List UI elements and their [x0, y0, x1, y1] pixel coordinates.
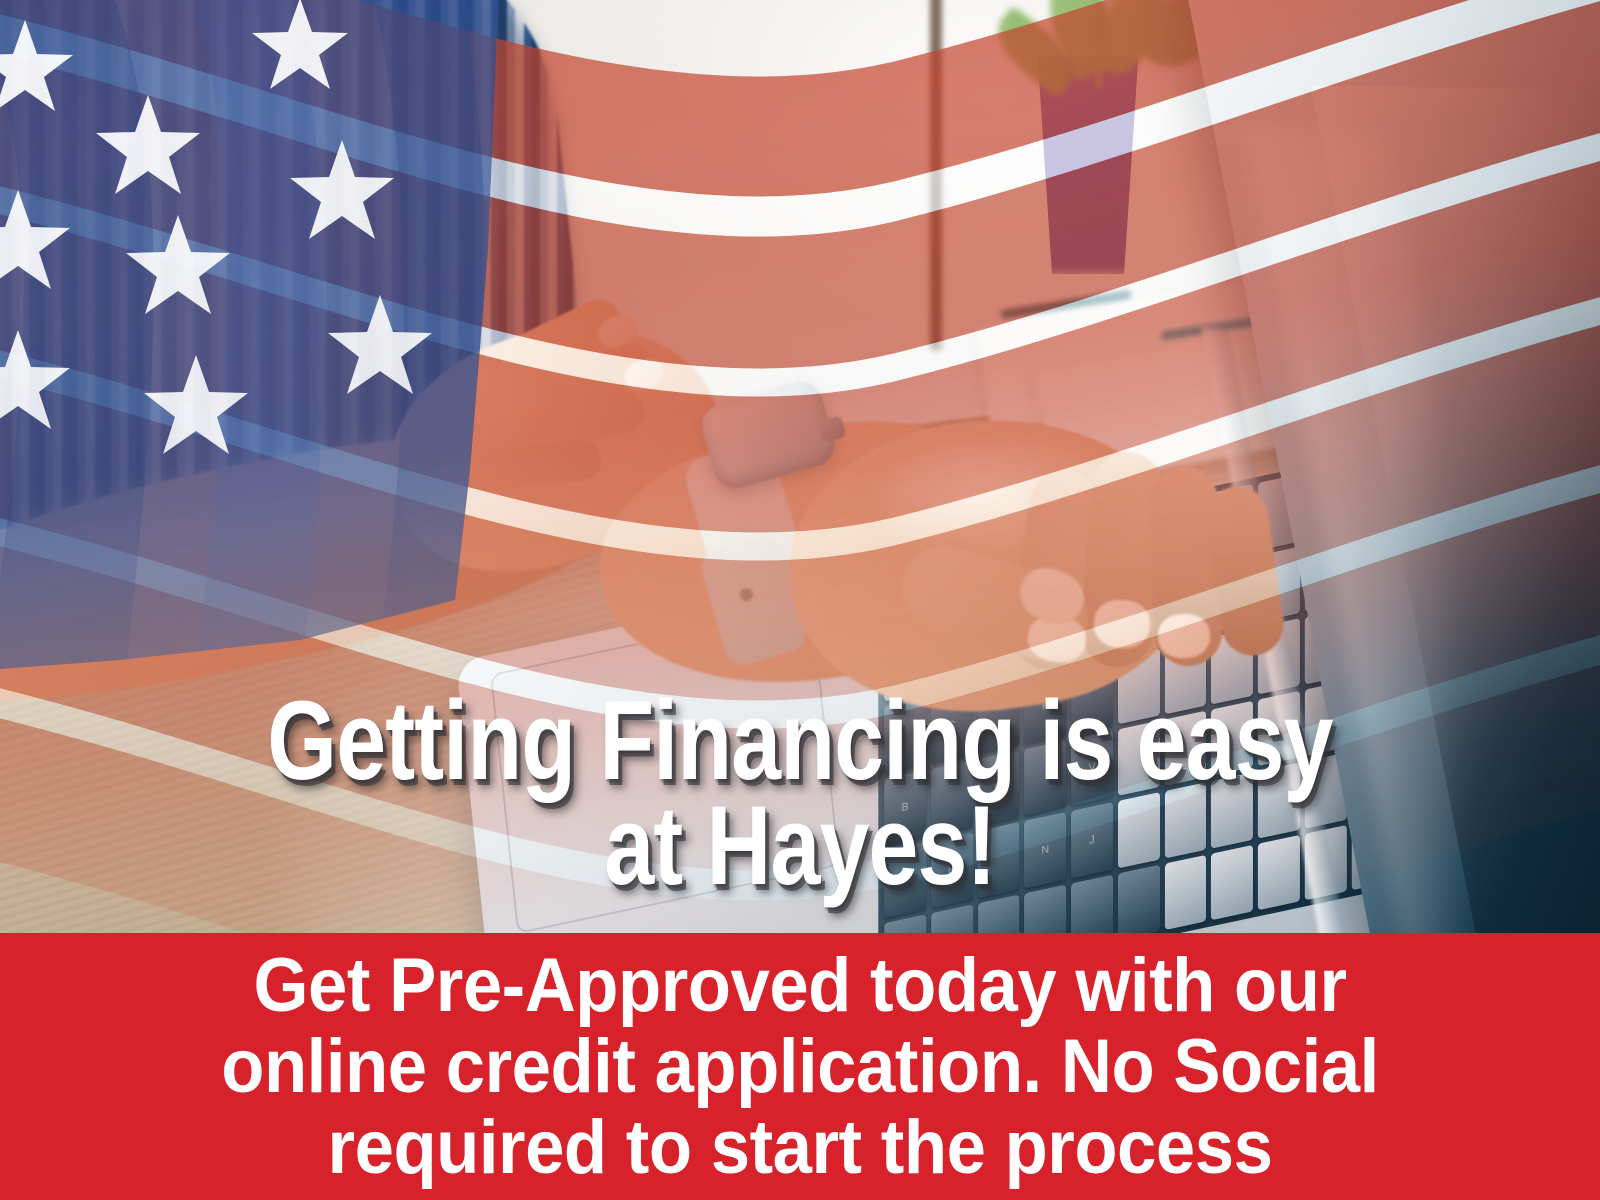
- headline-line-2: at Hayes!: [160, 793, 1440, 898]
- banner-line-1: Get Pre-Approved today with our: [93, 945, 1507, 1026]
- headline: Getting Financing is easy at Hayes!: [0, 688, 1600, 899]
- call-to-action-banner: Get Pre-Approved today with our online c…: [0, 933, 1600, 1200]
- background-pole: [930, 0, 942, 350]
- banner-text: Get Pre-Approved today with our online c…: [93, 945, 1507, 1189]
- banner-line-2: online credit application. No Social: [93, 1026, 1507, 1107]
- promo-banner: CF BG V HN J: [0, 0, 1600, 1200]
- headline-line-1: Getting Financing is easy: [160, 688, 1440, 793]
- fingernail: [1157, 613, 1211, 659]
- smartwatch-band-hole: [740, 588, 753, 601]
- banner-line-3: required to start the process: [93, 1107, 1507, 1188]
